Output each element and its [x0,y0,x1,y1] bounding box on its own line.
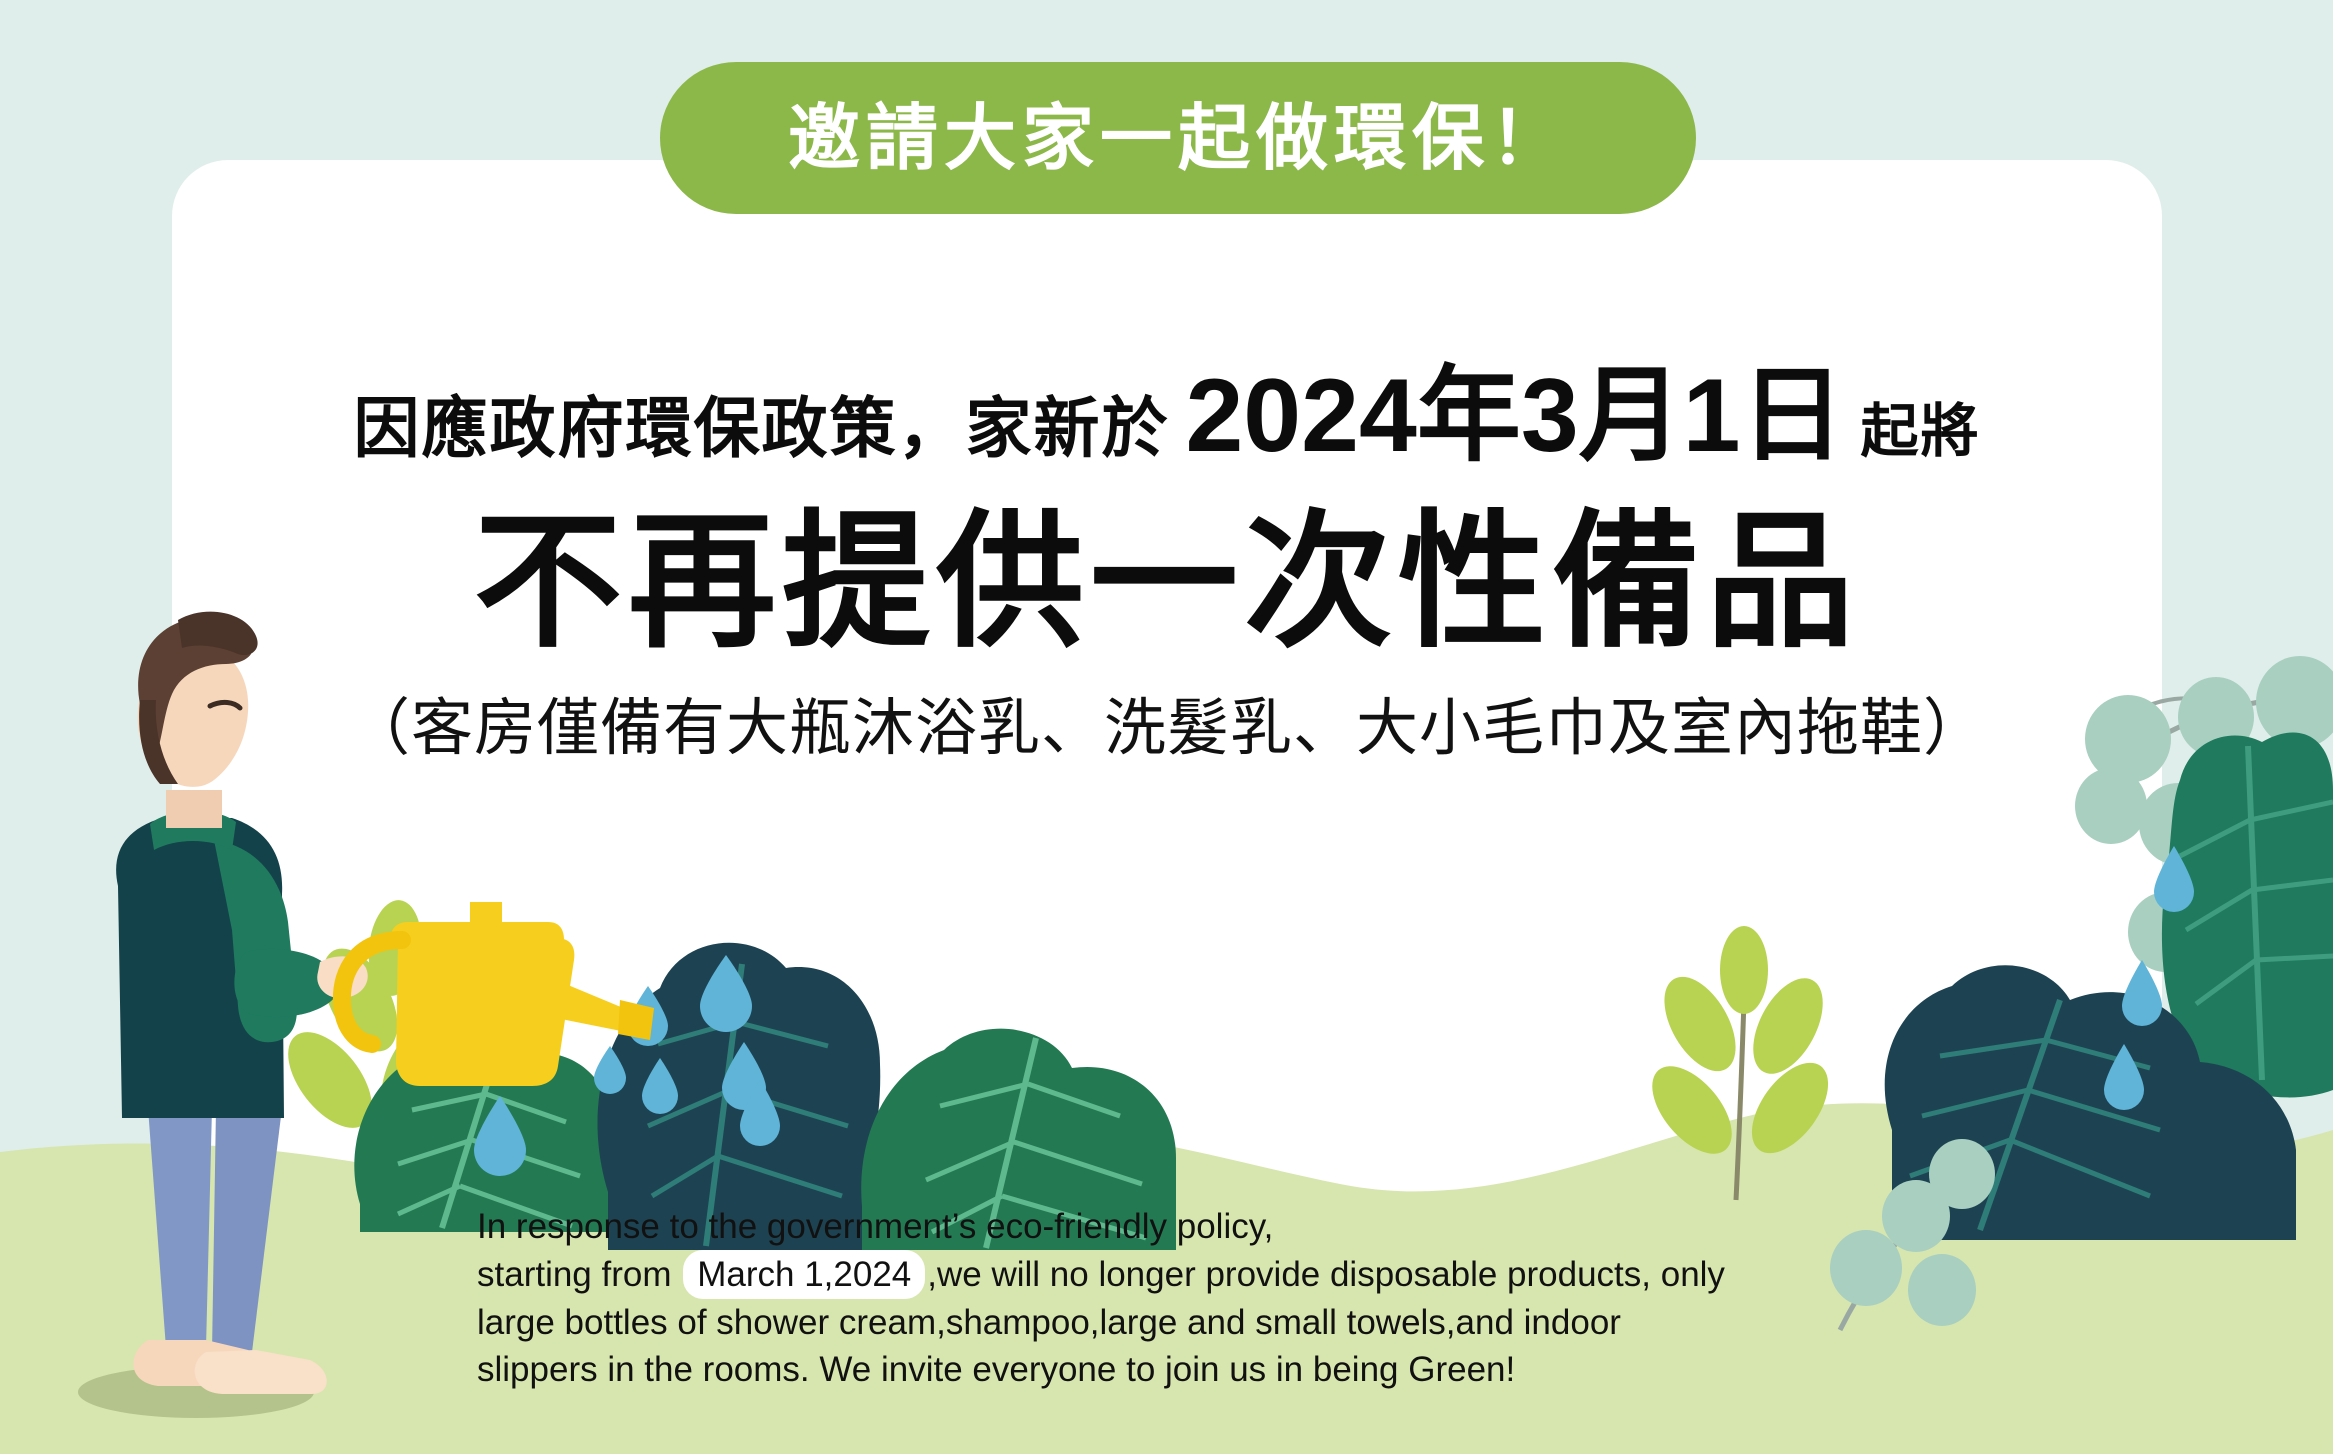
invite-banner: 邀請大家一起做環保！ [660,62,1696,214]
eco-policy-poster: 邀請大家一起做環保！ 因應政府環保政策，家新於 2024年3月1日 起將 不再提… [0,0,2333,1454]
headline-main: 不再提供一次性備品 [172,499,2162,665]
english-line-4: slippers in the rooms. We invite everyon… [477,1346,2037,1393]
headline-block: 因應政府環保政策，家新於 2024年3月1日 起將 不再提供一次性備品 （客房僅… [172,330,2162,765]
english-line-2-before: starting from [477,1255,672,1294]
english-line-2: starting from March 1,2024,we will no lo… [477,1250,2037,1299]
english-paragraph: In response to the government’s eco-frie… [477,1203,2037,1393]
banner-title: 邀請大家一起做環保！ [788,102,1568,174]
english-line-3: large bottles of shower cream,shampoo,la… [477,1299,2037,1346]
english-line-2-after: ,we will no longer provide disposable pr… [927,1255,1725,1294]
headline-effective-date: 2024年3月1日 [1185,330,1844,481]
headline-subnote: （客房僅備有大瓶沐浴乳、洗髮乳、大小毛巾及室內拖鞋） [172,691,2162,765]
english-line-1: In response to the government’s eco-frie… [477,1203,2037,1250]
english-effective-date: March 1,2024 [683,1250,925,1299]
headline-suffix: 起將 [1861,384,1981,468]
headline-line-1: 因應政府環保政策，家新於 2024年3月1日 起將 [172,330,2162,481]
headline-prefix: 因應政府環保政策，家新於 [353,375,1169,471]
